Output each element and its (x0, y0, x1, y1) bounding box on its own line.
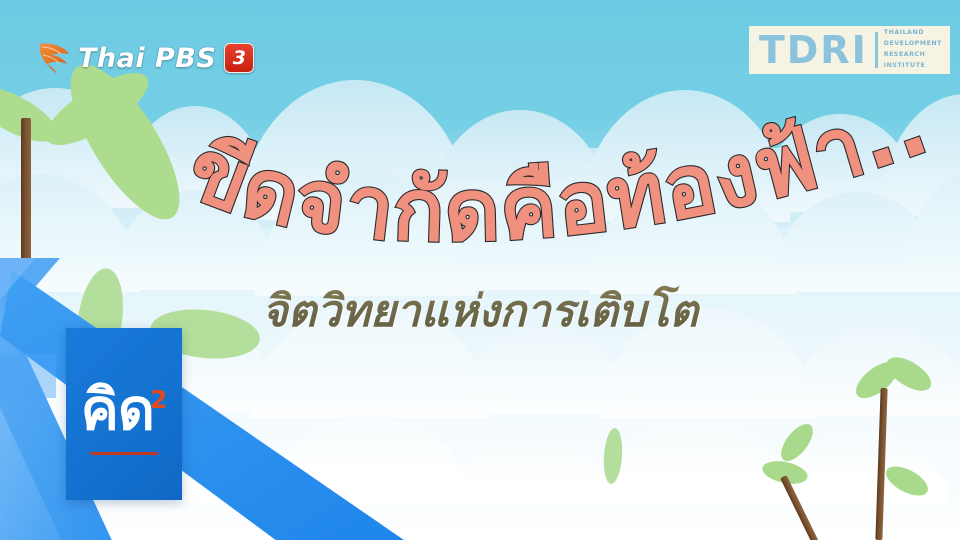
kid-logo-superscript: 2 (150, 385, 167, 414)
tdri-logo[interactable]: TDRI Thailand Development Research Insti… (749, 26, 950, 74)
tdri-subline-4: Institute (884, 61, 942, 72)
kid-squared-logo[interactable]: คิด 2 (66, 328, 182, 500)
tdri-subline-2: Development (884, 39, 942, 50)
video-title-card: ขีดจำกัดคือท้องฟ้า... จิตวิทยาแห่งการเติ… (0, 0, 960, 540)
bird-wing-icon (38, 40, 72, 76)
kid-logo-word: คิด (81, 383, 154, 437)
kid-logo-underline (90, 452, 158, 455)
channel-number-badge: 3 (224, 43, 254, 73)
tdri-letters: TDRI (759, 31, 868, 69)
tdri-divider (875, 32, 878, 68)
thaipbs-wordmark: Thai PBS (78, 43, 216, 74)
tdri-subtext: Thailand Development Research Institute (884, 28, 942, 71)
kid-logo-glyphs: คิด 2 (81, 383, 168, 437)
thaipbs-logo[interactable]: Thai PBS 3 (38, 38, 254, 78)
tdri-subline-1: Thailand (884, 28, 942, 39)
tdri-subline-3: Research (884, 50, 942, 61)
